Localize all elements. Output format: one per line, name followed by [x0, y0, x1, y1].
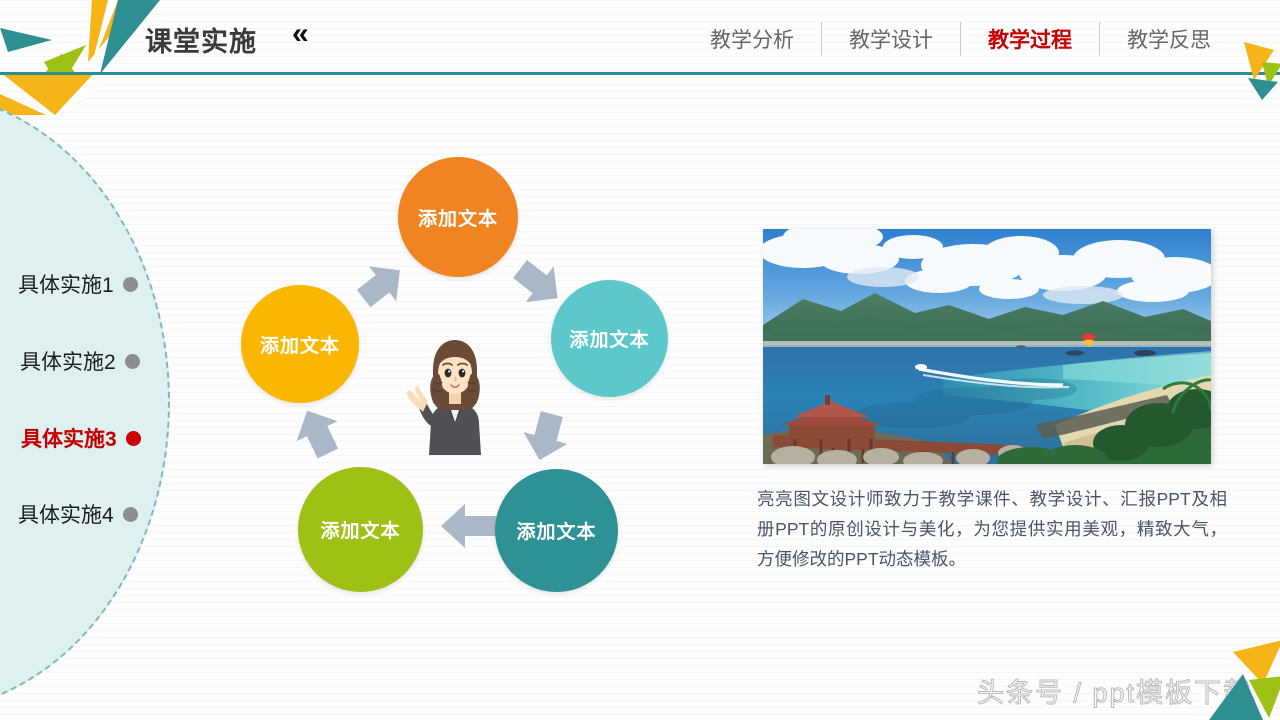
tab-jiaoxue-guocheng[interactable]: 教学过程 — [961, 24, 1099, 54]
tab-jiaoxue-fansi[interactable]: 教学反思 — [1100, 24, 1238, 54]
sidebar-item-1[interactable]: 具体实施1 — [18, 269, 188, 299]
bubble-cyan[interactable]: 添加文本 — [551, 280, 668, 397]
header-divider-line — [0, 72, 1280, 75]
arrow-orange-to-cyan-icon — [507, 252, 569, 314]
bubble-label: 添加文本 — [260, 331, 340, 358]
bubble-yellow[interactable]: 添加文本 — [241, 285, 359, 403]
bubble-label: 添加文本 — [320, 516, 400, 543]
sidebar-item-label: 具体实施2 — [20, 346, 116, 376]
bubble-label: 添加文本 — [569, 325, 649, 352]
arrow-darkteal-to-green-icon — [435, 498, 503, 554]
arrow-cyan-to-darkteal-icon — [515, 405, 577, 467]
chevron-left-icon: « — [292, 17, 306, 51]
sidebar-item-dot — [125, 354, 140, 369]
sidebar-item-4[interactable]: 具体实施4 — [18, 499, 188, 529]
bubble-label: 添加文本 — [418, 204, 498, 231]
teacher-character-illustration — [405, 330, 505, 455]
sidebar-item-3[interactable]: 具体实施3 — [21, 423, 191, 453]
tab-jiaoxue-sheji[interactable]: 教学设计 — [822, 24, 960, 54]
header: 课堂实施 « 教学分析 教学设计 教学过程 教学反思 — [0, 0, 1280, 80]
decor-triangles-top-right — [1228, 28, 1280, 100]
sidebar-item-dot — [126, 431, 141, 446]
sidebar-item-label: 具体实施3 — [21, 423, 117, 453]
bubble-dark-teal[interactable]: 添加文本 — [495, 469, 618, 592]
decor-triangles-bottom-right — [1185, 640, 1280, 720]
arrow-green-to-yellow-icon — [287, 402, 349, 464]
bubble-label: 添加文本 — [516, 517, 596, 544]
slide-canvas: 课堂实施 « 教学分析 教学设计 教学过程 教学反思 具体实施1 具体实施2 具… — [0, 0, 1280, 720]
photo-caption: 亮亮图文设计师致力于教学课件、教学设计、汇报PPT及相册PPT的原创设计与美化，… — [757, 484, 1227, 574]
sidebar-item-dot — [123, 277, 138, 292]
sidebar-item-2[interactable]: 具体实施2 — [20, 346, 190, 376]
sidebar-item-label: 具体实施4 — [18, 499, 114, 529]
sidebar-item-dot — [123, 507, 138, 522]
arrow-yellow-to-orange-icon — [351, 255, 411, 315]
bubble-orange[interactable]: 添加文本 — [398, 157, 518, 277]
bubble-green[interactable]: 添加文本 — [298, 467, 423, 592]
sidebar: 具体实施1 具体实施2 具体实施3 具体实施4 — [0, 92, 200, 712]
top-nav: 教学分析 教学设计 教学过程 教学反思 — [683, 22, 1238, 56]
sidebar-item-label: 具体实施1 — [18, 269, 114, 299]
page-title: 课堂实施 — [145, 20, 257, 59]
scenery-photo — [763, 229, 1211, 464]
tab-jiaoxue-fenxi[interactable]: 教学分析 — [683, 24, 821, 54]
